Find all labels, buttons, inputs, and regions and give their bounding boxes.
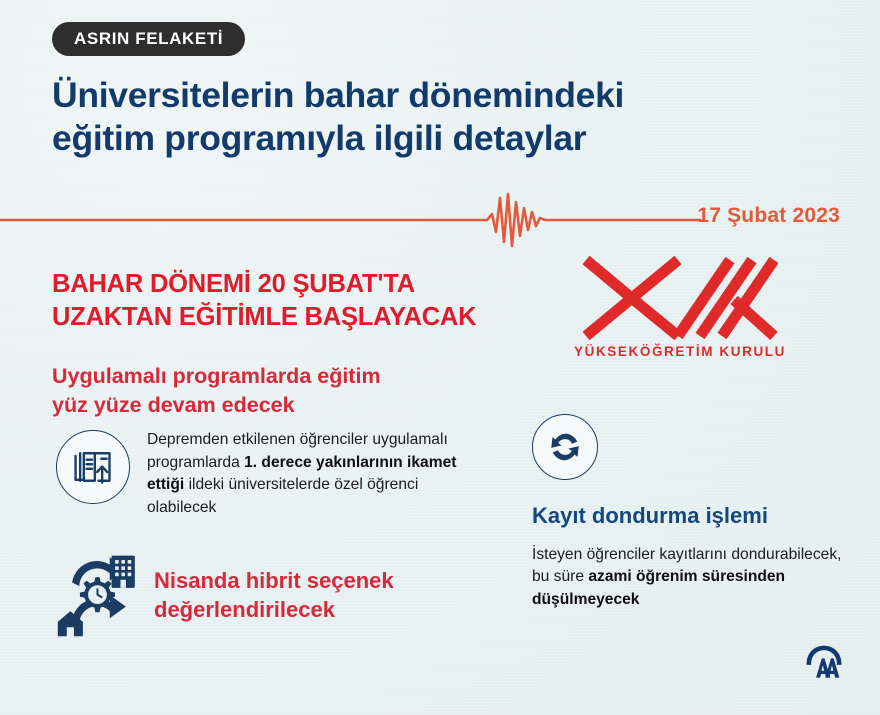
aa-anadolu-agency-logo-icon (802, 641, 846, 685)
block-hybrid-option-heading: Nisanda hibrit seçenek değerlendirilecek (154, 566, 394, 625)
hybrid-heading-line-2: değerlendirilecek (154, 597, 335, 622)
book-arrow-up-icon (71, 445, 115, 489)
lead-kicker-line-2: UZAKTAN EĞİTİMLE BAŞLAYACAK (52, 303, 476, 331)
lead-kicker: BAHAR DÖNEMİ 20 ŞUBAT'TA UZAKTAN EĞİTİML… (52, 268, 476, 333)
aa-agency-logo (802, 641, 846, 685)
block-freeze-registration: Kayıt dondurma işlemi İsteyen öğrenciler… (532, 414, 852, 612)
page-title-line-2: eğitim programıyla ilgili detaylar (52, 117, 842, 160)
hybrid-heading-line-1: Nisanda hibrit seçenek (154, 568, 394, 593)
page-title: Üniversitelerin bahar dönemindeki eğitim… (52, 74, 842, 161)
home-office-gear-clock-cycle-icon (56, 552, 142, 638)
lead-subkicker-line-1: Uygulamalı programlarda eğitim (52, 364, 381, 388)
freeze-registration-title: Kayıt dondurma işlemi (532, 502, 852, 531)
refresh-cycle-icon (545, 427, 585, 467)
lead-subkicker-line-2: yüz yüze devam edecek (52, 393, 295, 417)
book-arrow-up-icon-circle (56, 430, 130, 504)
home-office-gear-clock-cycle-icon-wrap (56, 552, 142, 638)
yok-wordmark: YÜKSEKÖĞRETİM KURULU (565, 344, 795, 359)
lead-subkicker: Uygulamalı programlarda eğitim yüz yüze … (52, 362, 381, 420)
refresh-cycle-icon-circle (532, 414, 598, 480)
lead-kicker-line-1: BAHAR DÖNEMİ 20 ŞUBAT'TA (52, 270, 415, 298)
block-special-student: Depremden etkilenen öğrenciler uygulamal… (56, 428, 476, 519)
yok-monogram-icon (582, 256, 778, 340)
page-title-line-1: Üniversitelerin bahar dönemindeki (52, 75, 624, 115)
block-special-student-text: Depremden etkilenen öğrenciler uygulamal… (147, 428, 476, 519)
category-badge: ASRIN FELAKETİ (52, 22, 245, 56)
infographic-canvas: ASRIN FELAKETİ Üniversitelerin bahar dön… (0, 0, 880, 715)
yok-logo: YÜKSEKÖĞRETİM KURULU (565, 256, 795, 359)
freeze-registration-text: İsteyen öğrenciler kayıtlarını dondurabi… (532, 544, 852, 612)
publish-date: 17 Şubat 2023 (697, 204, 840, 228)
text-part-3: ildeki üniversitelerde özel öğrenci olab… (147, 476, 418, 516)
block-hybrid-option: Nisanda hibrit seçenek değerlendirilecek (56, 552, 486, 638)
